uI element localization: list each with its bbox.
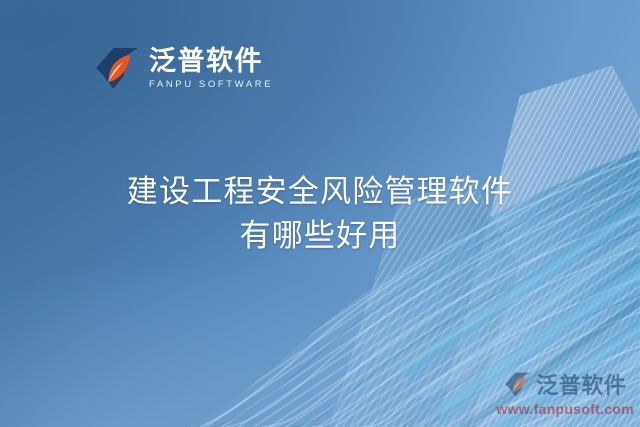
brand-name-en: FANPU SOFTWARE — [149, 80, 273, 90]
promo-banner: 泛普软件 FANPU SOFTWARE 建设工程安全风险管理软件 有哪些好用 泛… — [0, 0, 640, 427]
banner-headline: 建设工程安全风险管理软件 有哪些好用 — [0, 170, 640, 258]
headline-line-1: 建设工程安全风险管理软件 — [0, 170, 640, 214]
brand-logo[interactable]: 泛普软件 FANPU SOFTWARE — [94, 47, 273, 90]
fanpu-sail-shield-icon — [94, 47, 140, 90]
headline-line-2: 有哪些好用 — [0, 214, 640, 258]
brand-logo-text: 泛普软件 FANPU SOFTWARE — [149, 48, 273, 90]
brand-name-cn: 泛普软件 — [149, 48, 273, 75]
